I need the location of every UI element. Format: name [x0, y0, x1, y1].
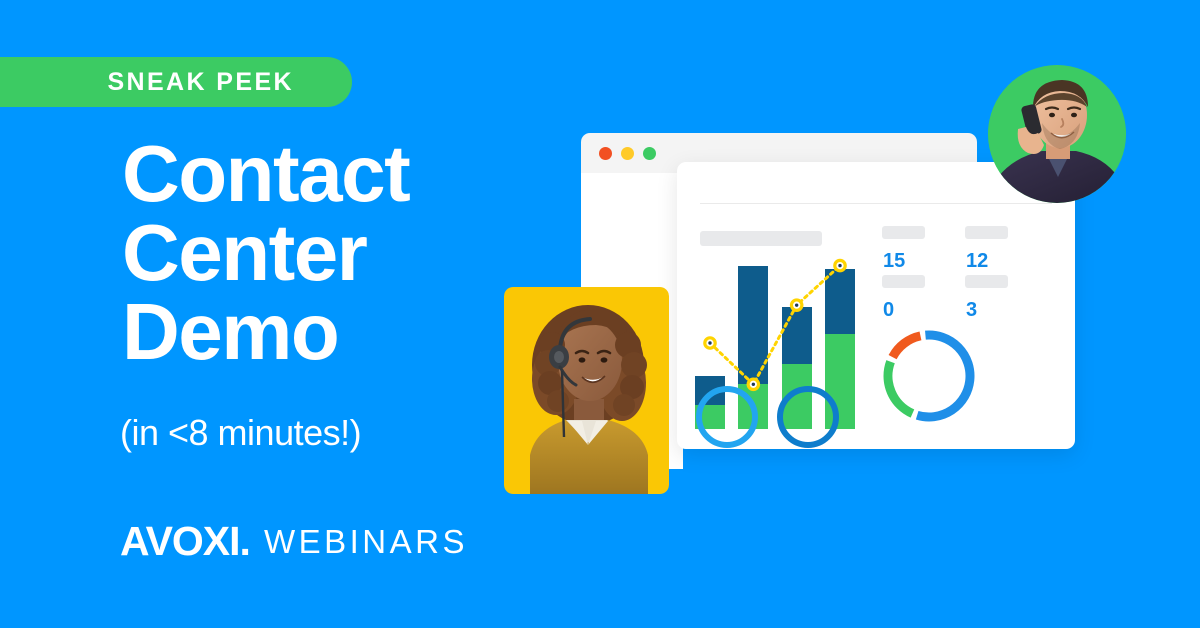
donut-chart — [877, 324, 981, 428]
card-divider — [700, 203, 1052, 204]
kpi-label-placeholder-1 — [882, 226, 925, 239]
dashboard-card: 15 12 0 3 — [677, 162, 1075, 449]
trend-marker-core-3 — [838, 264, 841, 267]
man-phone-photo — [988, 65, 1126, 203]
donut-slice-segment-orange — [893, 336, 921, 357]
minimize-dot-icon — [621, 147, 634, 160]
trend-marker-core-0 — [708, 341, 711, 344]
kpi-label-placeholder-3 — [882, 275, 925, 288]
ring-light-icon — [696, 386, 758, 448]
kpi-value-2: 12 — [966, 251, 988, 271]
close-dot-icon — [599, 147, 612, 160]
maximize-dot-icon — [643, 147, 656, 160]
kpi-value-3: 0 — [883, 300, 894, 320]
kpi-value-1: 15 — [883, 251, 905, 271]
ring-dark-icon — [777, 386, 839, 448]
kpi-label-placeholder-4 — [965, 275, 1008, 288]
promo-banner: SNEAK PEEK Contact Center Demo (in <8 mi… — [0, 0, 1200, 628]
trend-marker-core-1 — [752, 383, 755, 386]
trend-line — [710, 266, 840, 385]
donut-slice-segment-green — [888, 362, 912, 414]
donut-slice-segment-blue — [917, 335, 970, 417]
kpi-value-4: 3 — [966, 300, 977, 320]
woman-headset-photo — [504, 287, 669, 494]
chart-title-placeholder — [700, 231, 822, 246]
kpi-label-placeholder-2 — [965, 226, 1008, 239]
trend-marker-core-2 — [795, 303, 798, 306]
